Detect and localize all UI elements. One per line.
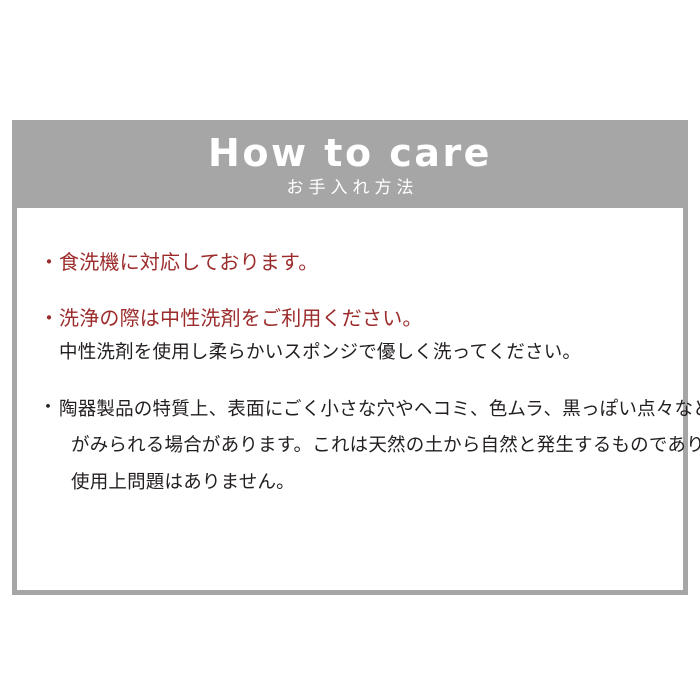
care-item-neutral-detergent: ・ 洗浄の際は中性洗剤をご利用ください。 ・ 中性洗剤を使用し柔らかいスポンジで… <box>39 304 661 369</box>
bullet-dot-icon: ・ <box>39 393 59 421</box>
care-line: ・ 陶器製品の特質上、表面にごく小さな穴やヘコミ、色ムラ、黒っぽい点々など がみ… <box>39 393 661 498</box>
card-header-band: How to care お手入れ方法 <box>17 125 683 208</box>
care-item-text: 洗浄の際は中性洗剤をご利用ください。 <box>59 304 661 336</box>
care-item-text-line-3: 使用上問題はありません。 <box>59 466 700 498</box>
care-item-text-line-1: 陶器製品の特質上、表面にごく小さな穴やヘコミ、色ムラ、黒っぽい点々など <box>59 393 700 425</box>
care-line: ・ 洗浄の際は中性洗剤をご利用ください。 <box>39 304 661 336</box>
care-item-subnote-text: 中性洗剤を使用し柔らかいスポンジで優しく洗ってください。 <box>59 337 661 366</box>
care-item-dishwasher-safe: ・ 食洗機に対応しております。 <box>39 248 661 280</box>
care-item-subnote-row: ・ 中性洗剤を使用し柔らかいスポンジで優しく洗ってください。 <box>39 337 661 369</box>
page-subtitle: お手入れ方法 <box>282 178 419 198</box>
care-line: ・ 食洗機に対応しております。 <box>39 248 661 280</box>
care-item-ceramic-characteristics: ・ 陶器製品の特質上、表面にごく小さな穴やヘコミ、色ムラ、黒っぽい点々など がみ… <box>39 393 661 498</box>
page-canvas: How to care お手入れ方法 ・ 食洗機に対応しております。 ・ 洗浄の… <box>0 0 700 700</box>
bullet-dot-icon: ・ <box>39 304 59 336</box>
care-item-text: 食洗機に対応しております。 <box>59 248 661 280</box>
care-item-text-line-2: がみられる場合があります。これは天然の土から自然と発生するものであり、 <box>59 429 700 461</box>
bullet-dot-icon: ・ <box>39 248 59 280</box>
card-body: ・ 食洗機に対応しております。 ・ 洗浄の際は中性洗剤をご利用ください。 ・ 中… <box>17 208 683 590</box>
how-to-care-card: How to care お手入れ方法 ・ 食洗機に対応しております。 ・ 洗浄の… <box>12 120 688 595</box>
bullet-spacer: ・ <box>39 337 59 369</box>
page-title: How to care <box>208 134 492 172</box>
care-item-text-block: 陶器製品の特質上、表面にごく小さな穴やヘコミ、色ムラ、黒っぽい点々など がみられ… <box>59 393 700 498</box>
